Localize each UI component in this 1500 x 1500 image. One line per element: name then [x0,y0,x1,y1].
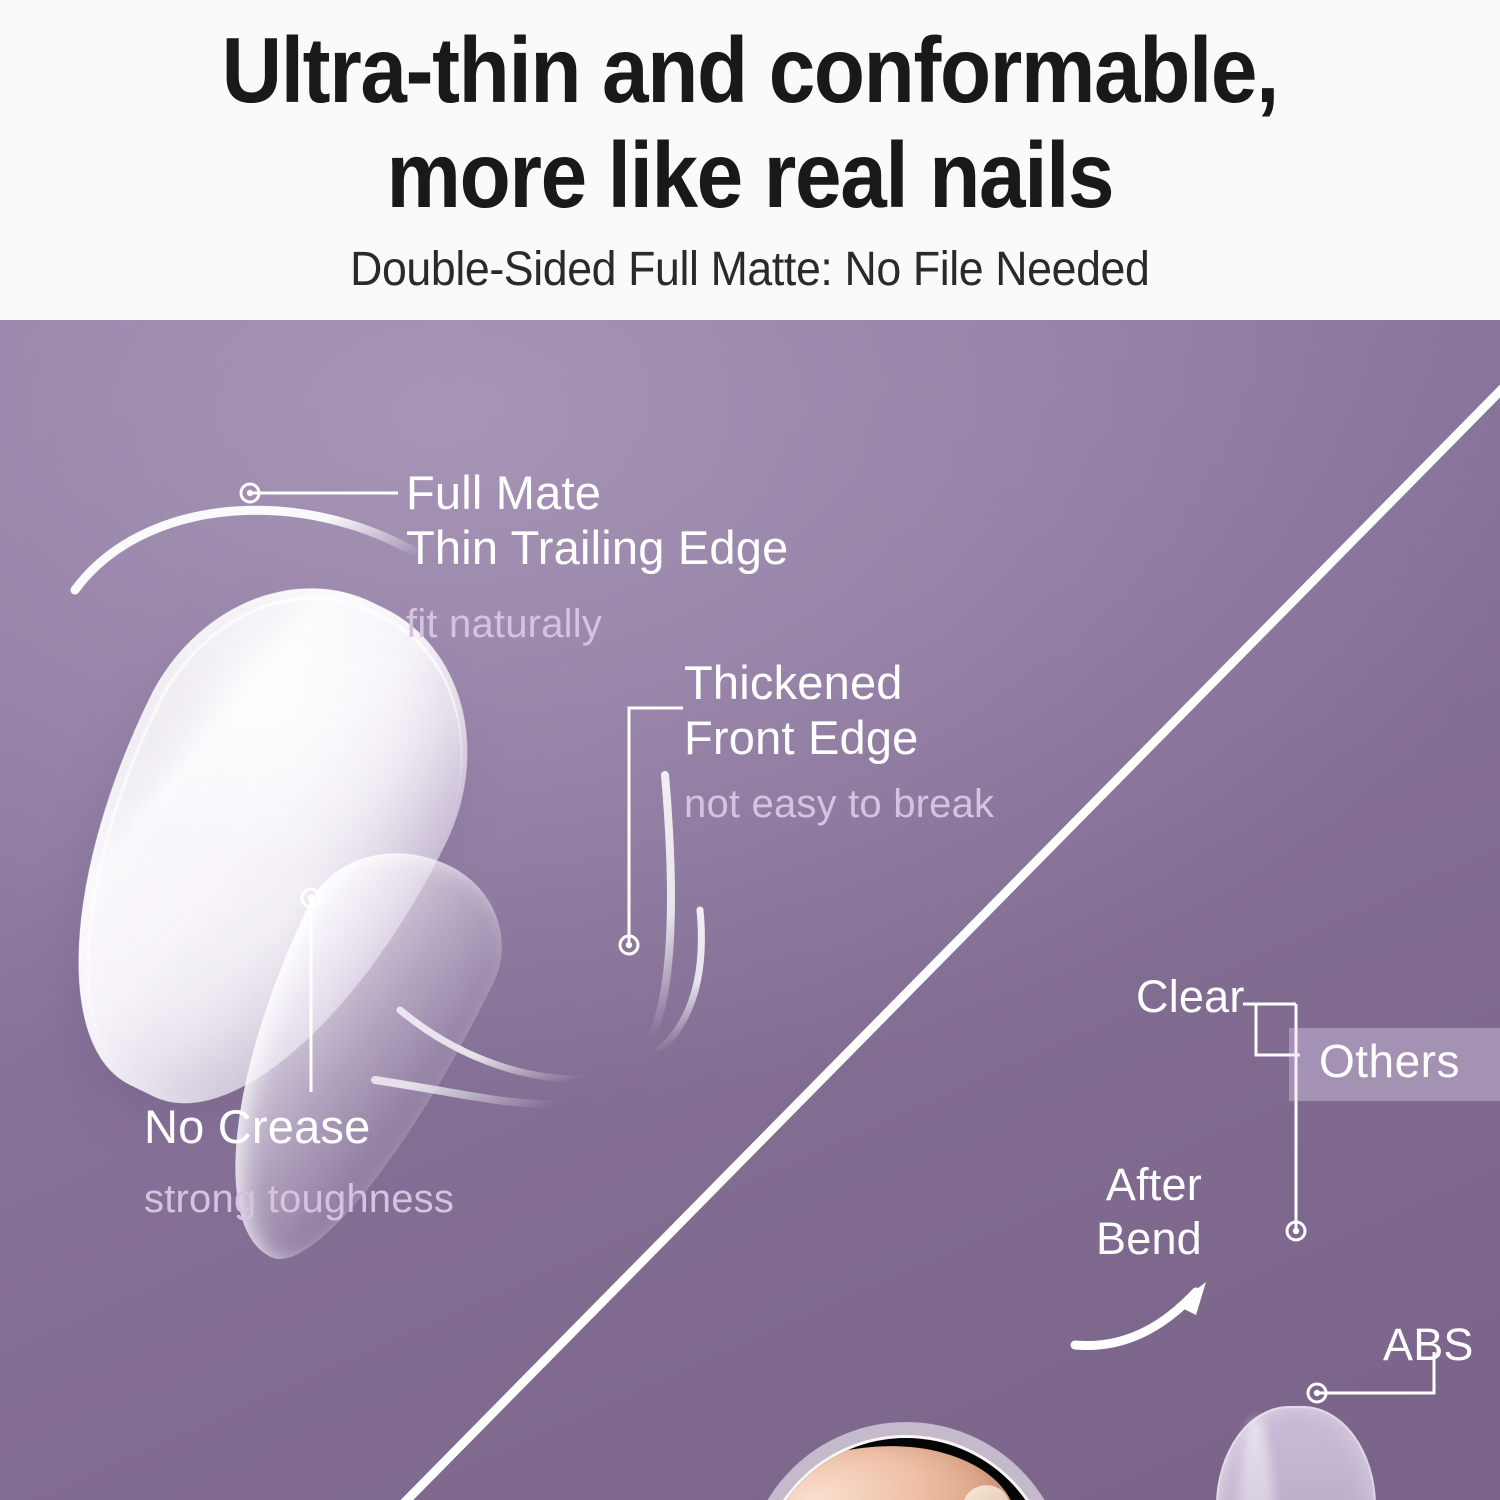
callout-title-clear: Clear [1136,970,1245,1024]
bend-arrow [1075,1282,1206,1346]
leader-full-matte [241,484,398,502]
callout-caption-no-crease: strong toughness [144,1176,454,1222]
product-feature-image: Ultra-thin and conformable, more like re… [0,0,1500,1500]
leader-thickened-front-edge [620,708,683,954]
header-band: Ultra-thin and conformable, more like re… [0,0,1500,320]
callout-title-thickened-front-edge: Thickened Front Edge [684,656,919,765]
subheadline: Double-Sided Full Matte: No File Needed [350,242,1149,297]
finger-top-nail [961,1483,1012,1500]
brand-badge-others: Others [1289,1028,1500,1101]
callout-title-no-crease: No Crease [144,1100,370,1155]
callout-caption-thickened-front-edge: not easy to break [684,781,994,827]
pinch-photo-inset [760,1438,1052,1500]
headline: Ultra-thin and conformable, more like re… [222,18,1278,228]
callout-caption-full-matte: fit naturally [406,601,602,647]
comparison-panel: Full Mate Thin Trailing Edge fit natural… [0,320,1500,1500]
callout-title-abs: ABS [1383,1318,1474,1372]
gloss-arc-top [75,510,445,590]
headline-line-2: more like real nails [222,123,1278,228]
finger-top [760,1438,1024,1500]
callout-title-after-bend: After Bend [1096,1158,1202,1266]
headline-line-1: Ultra-thin and conformable, [222,18,1278,123]
callout-title-full-matte: Full Mate Thin Trailing Edge [406,466,788,575]
